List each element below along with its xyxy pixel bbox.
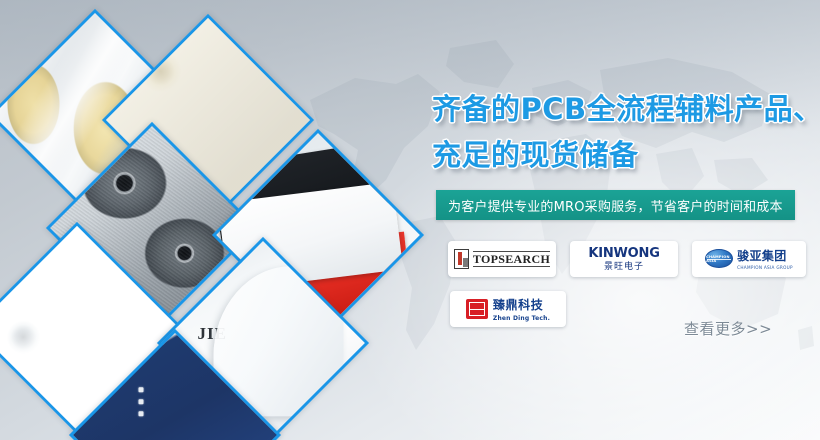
- logo-topsearch[interactable]: TOPSEARCH: [448, 241, 556, 277]
- jie-sheet-label: JIE: [198, 324, 227, 344]
- kinwong-label-cn: 景旺电子: [588, 263, 659, 272]
- panel-dots: [130, 380, 144, 416]
- logo-zhending[interactable]: 臻鼎科技 Zhen Ding Tech.: [450, 291, 566, 327]
- subtitle-text: 为客户提供专业的MRO采购服务，节省客户的时间和成本: [448, 196, 783, 215]
- headline-line-2: 充足的现货储备: [432, 132, 812, 178]
- headline: 齐备的PCB全流程辅料产品、 充足的现货储备: [432, 86, 812, 178]
- logo-champion-asia[interactable]: CHAMPION ASIA 骏亚集团 CHAMPION ASIA GROUP: [692, 241, 806, 277]
- logo-kinwong[interactable]: KINWONG 景旺电子: [570, 241, 678, 277]
- champion-label-cn: 骏亚集团: [737, 249, 787, 263]
- client-logos-row-2: 臻鼎科技 Zhen Ding Tech.: [450, 291, 566, 327]
- headline-line-1: 齐备的PCB全流程辅料产品、: [432, 86, 812, 132]
- champion-label-en: CHAMPION ASIA GROUP: [737, 266, 793, 270]
- zhending-mark-icon: [466, 299, 488, 319]
- client-logos-row-1: TOPSEARCH KINWONG 景旺电子 CHAMPION ASIA 骏亚集…: [448, 241, 806, 277]
- zhending-label-cn: 臻鼎科技: [493, 298, 543, 312]
- topsearch-mark-icon: [454, 249, 469, 269]
- globe-label: CHAMPION ASIA: [706, 255, 732, 263]
- topsearch-label: TOPSEARCH: [473, 251, 550, 267]
- product-collage: JIE: [0, 0, 430, 440]
- promo-banner: JIE 齐备的PCB全流程辅料产品、 充足的现货储备 为客户提供专业的MRO采购…: [0, 0, 820, 440]
- kinwong-label-en: KINWONG: [588, 247, 659, 260]
- zhending-label-en: Zhen Ding Tech.: [493, 316, 550, 322]
- subtitle-bar: 为客户提供专业的MRO采购服务，节省客户的时间和成本: [436, 190, 795, 220]
- view-more-link[interactable]: 查看更多>>: [684, 318, 772, 339]
- globe-icon: CHAMPION ASIA: [705, 249, 733, 268]
